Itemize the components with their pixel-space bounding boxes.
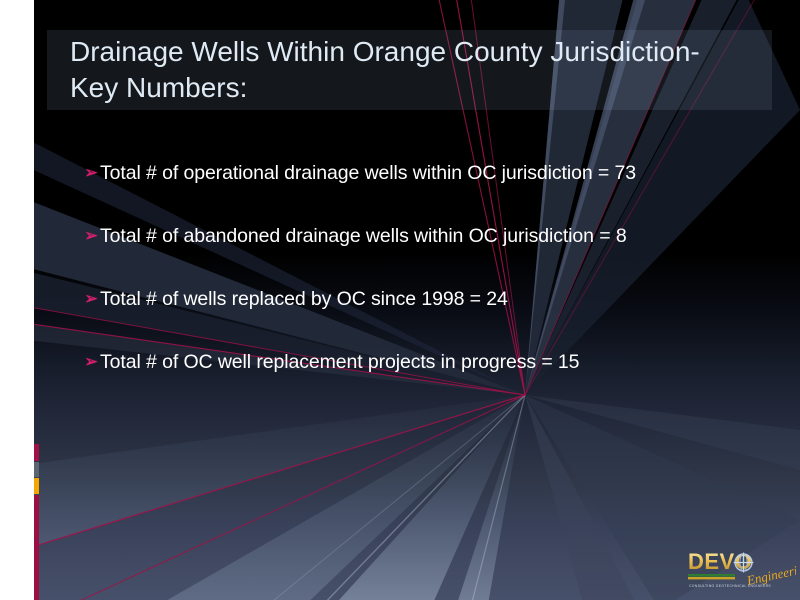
title-line-1: Drainage Wells Within Orange County Juri… — [70, 34, 770, 70]
bullet-list: ➢ Total # of operational drainage wells … — [84, 160, 764, 412]
list-item: ➢ Total # of abandoned drainage wells wi… — [84, 223, 764, 286]
arrow-bullet-icon: ➢ — [84, 223, 100, 249]
bullet-text: Total # of operational drainage wells wi… — [100, 160, 764, 186]
devo-engineering-logo: DEVO Engineering CONSULTING GEOTECHNICAL… — [686, 543, 796, 593]
bullet-text: Total # of wells replaced by OC since 19… — [100, 286, 764, 312]
list-item: ➢ Total # of OC well replacement project… — [84, 349, 764, 412]
page-title: Drainage Wells Within Orange County Juri… — [70, 34, 770, 106]
presentation-slide: Drainage Wells Within Orange County Juri… — [0, 0, 800, 600]
list-item: ➢ Total # of operational drainage wells … — [84, 160, 764, 223]
logo-bar-gold — [688, 577, 735, 579]
list-item: ➢ Total # of wells replaced by OC since … — [84, 286, 764, 349]
bullet-text: Total # of abandoned drainage wells with… — [100, 223, 764, 249]
bullet-text: Total # of OC well replacement projects … — [100, 349, 764, 375]
title-line-2: Key Numbers: — [70, 70, 770, 106]
arrow-bullet-icon: ➢ — [84, 160, 100, 186]
logo-bar-green — [688, 574, 735, 577]
arrow-bullet-icon: ➢ — [84, 349, 100, 375]
logo-tagline: CONSULTING GEOTECHNICAL ENGINEERS — [689, 584, 771, 588]
sidebar-band — [0, 0, 34, 600]
arrow-bullet-icon: ➢ — [84, 286, 100, 312]
